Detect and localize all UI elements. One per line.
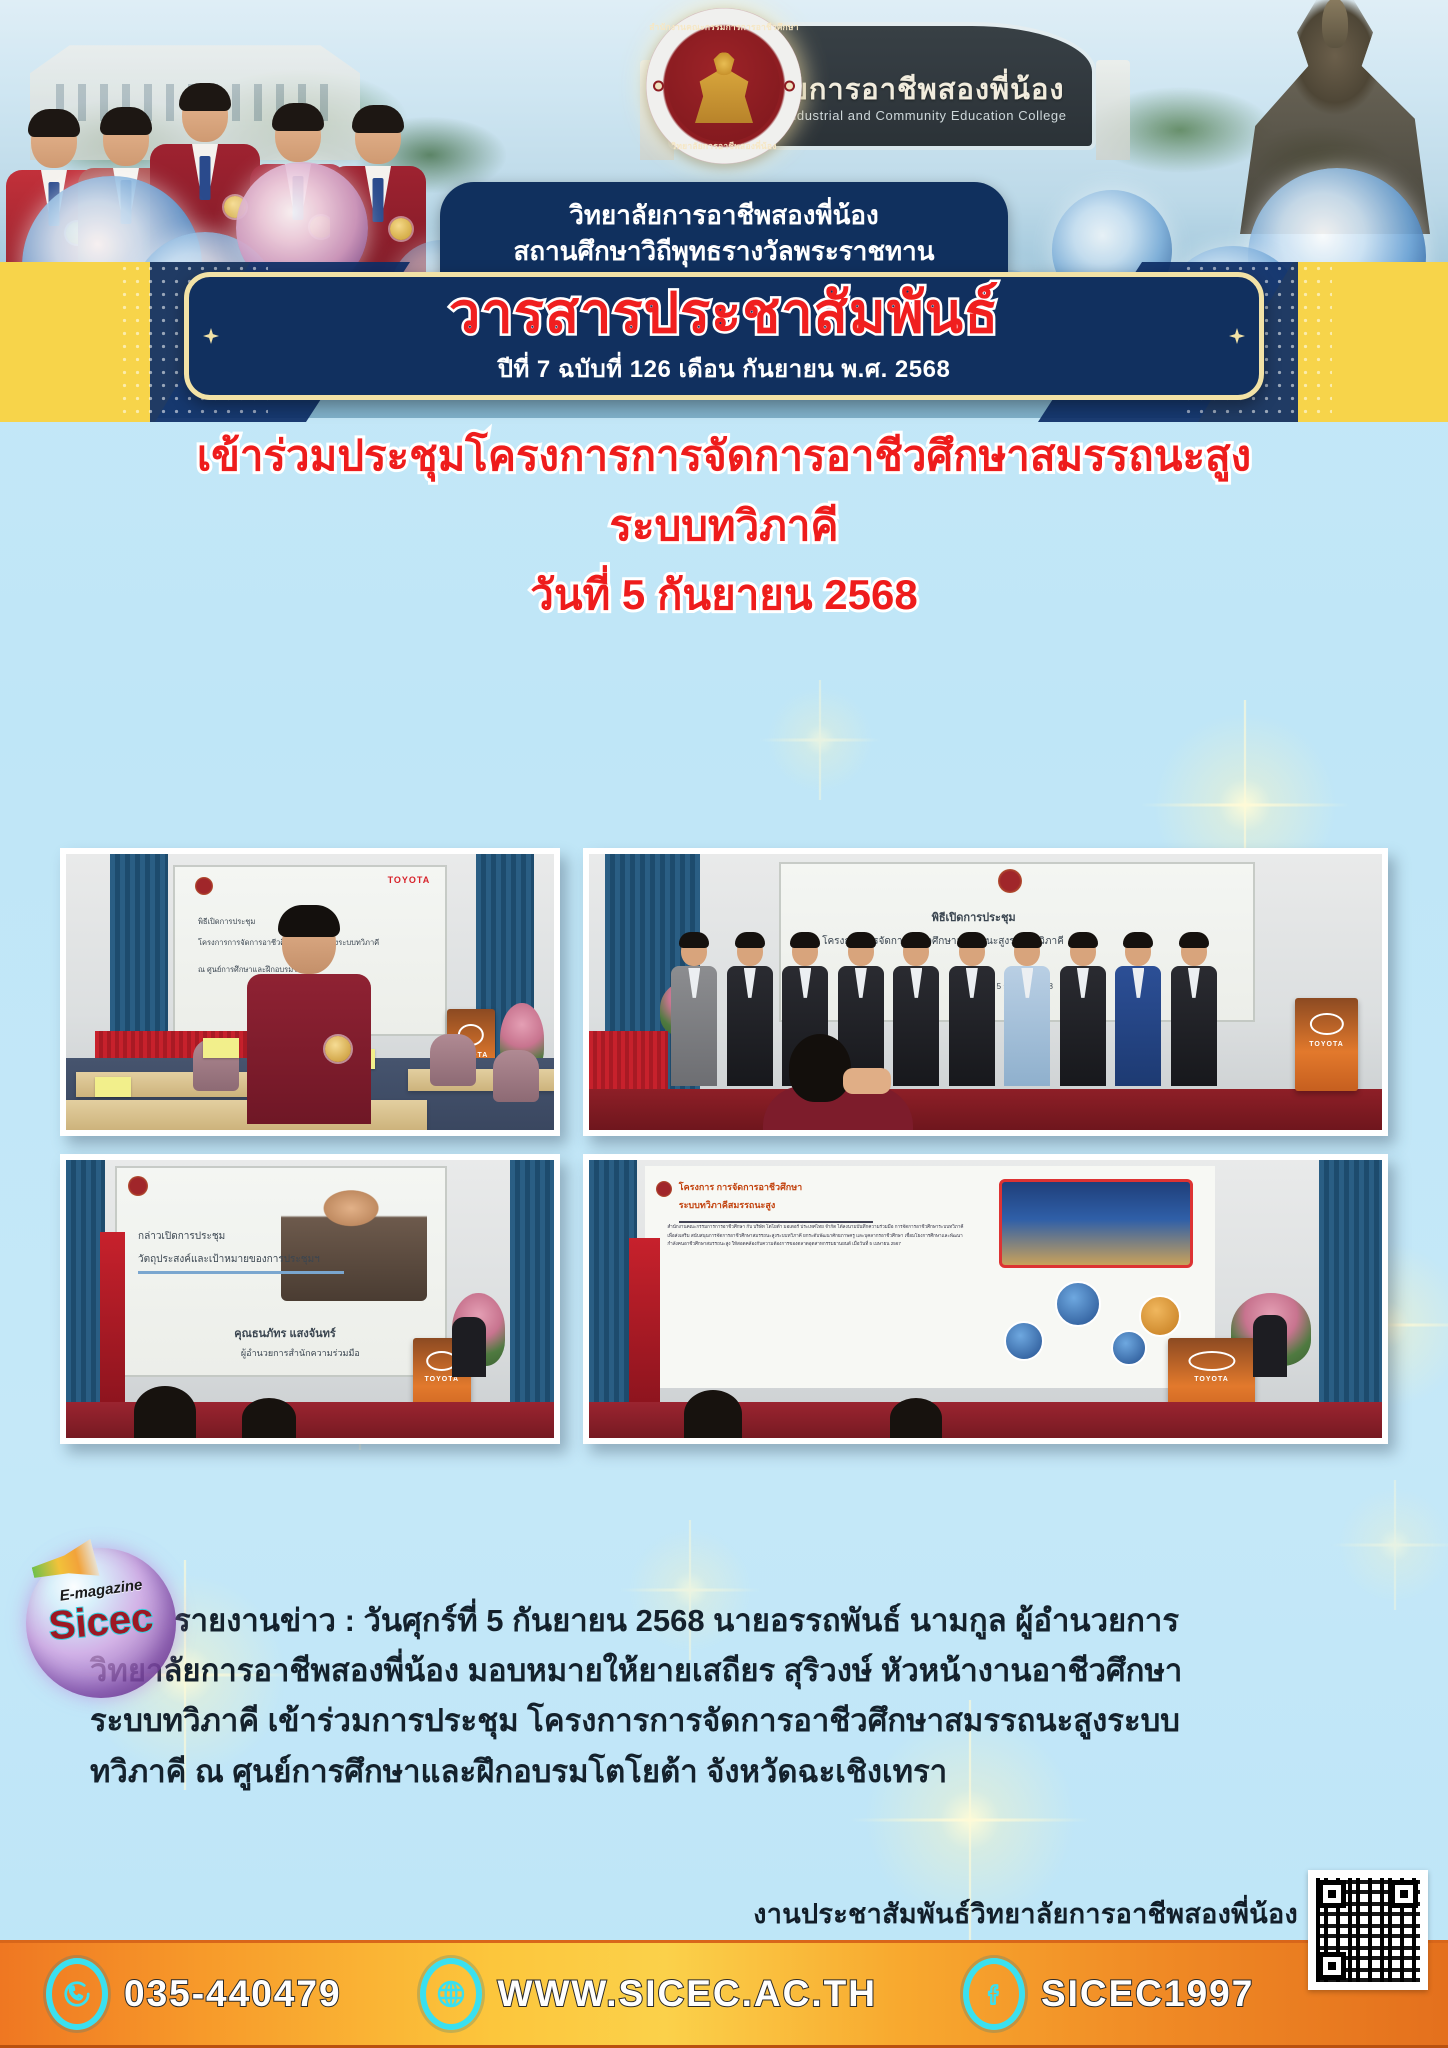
facebook-icon [963, 1958, 1025, 2030]
emagazine-badge: E-magazine Sicec [26, 1548, 176, 1698]
audience-head [684, 1390, 742, 1438]
slide-circle-photo [1111, 1330, 1147, 1366]
slide-seal-icon [998, 869, 1022, 893]
photo-top-left[interactable]: TOYOTA พิธีเปิดการประชุม โครงการการจัดกา… [60, 848, 560, 1136]
opening-remarks-scene: กล่าวเปิดการประชุม วัตถุประสงค์และเป้าหม… [66, 1160, 554, 1438]
seal-dot-right [786, 83, 793, 90]
audience-head [890, 1398, 942, 1438]
headline-line-1: เข้าร่วมประชุมโครงการการจัดการอาชีวศึกษา… [40, 426, 1408, 486]
slide-title-line-1: โครงการ การจัดการอาชีวศึกษา [679, 1181, 802, 1195]
presentation-screen: กล่าวเปิดการประชุม วัตถุประสงค์และเป้าหม… [115, 1166, 447, 1377]
podium: TOYOTA [1295, 998, 1358, 1092]
footer-website-item[interactable]: WWW.SICEC.AC.TH [420, 1958, 877, 2030]
stage-group-scene: พิธีเปิดการประชุม โครงการการจัดการอาชีวศ… [589, 854, 1382, 1130]
toyota-logo-icon [1188, 1351, 1235, 1371]
website-url: WWW.SICEC.AC.TH [498, 1973, 877, 2015]
room-pillar [1319, 1160, 1382, 1438]
qr-code[interactable] [1308, 1870, 1428, 1990]
slide-seal-icon [195, 877, 213, 895]
stage-floor [589, 1089, 1382, 1130]
delegate-person [1168, 936, 1220, 1086]
seal-inner-disc [668, 30, 780, 142]
speaker-portrait [281, 1182, 427, 1300]
article-body: รายงานข่าว : วันศุกร์ที่ 5 กันยายน 2568 … [90, 1596, 1370, 1797]
headline-block: เข้าร่วมประชุมโครงการการจัดการอาชีวศึกษา… [0, 418, 1448, 625]
seal-bottom-label: วิทยาลัยการอาชีพสองพี่น้อง [646, 139, 802, 153]
delegate-person [1001, 936, 1053, 1086]
slide-seal-icon [656, 1181, 672, 1197]
slide-group-photo [999, 1179, 1193, 1268]
speaker-at-podium [1253, 1315, 1287, 1377]
headline-line-3: วันที่ 5 กันยายน 2568 [40, 565, 1408, 625]
podium-brand-label: TOYOTA [413, 1376, 472, 1383]
footer-facebook-item[interactable]: SICEC1997 [963, 1958, 1254, 2030]
photo-bottom-left[interactable]: กล่าวเปิดการประชุม วัตถุประสงค์และเป้าหม… [60, 1154, 560, 1444]
globe-icon [420, 1958, 482, 2030]
photo-bottom-right[interactable]: โครงการ การจัดการอาชีวศึกษา ระบบทวิภาคีส… [583, 1154, 1388, 1444]
stage-curtain [629, 1238, 661, 1405]
qr-finder-icon [1318, 1880, 1346, 1908]
name-card [95, 1077, 131, 1097]
conference-room-scene: TOYOTA พิธีเปิดการประชุม โครงการการจัดกา… [66, 854, 554, 1130]
slide-line-2: วัตถุประสงค์และเป้าหมายของการประชุมฯ [138, 1252, 320, 1267]
podium-brand-label: TOYOTA [1168, 1376, 1255, 1383]
chair [493, 1050, 539, 1102]
slide-speaker-name: คุณธนภัทร แสงจันทร์ [234, 1326, 336, 1343]
footer-phone-item[interactable]: 035-440479 [46, 1958, 342, 2030]
delegate-person [1112, 936, 1164, 1086]
toyota-logo-icon [1309, 1013, 1343, 1036]
audience-head [134, 1386, 196, 1438]
phone-number: 035-440479 [124, 1973, 342, 2015]
project-detail-scene: โครงการ การจัดการอาชีวศึกษา ระบบทวิภาคีส… [589, 1160, 1382, 1438]
photographer-silhouette [763, 1020, 913, 1130]
slide-line-1: กล่าวเปิดการประชุม [138, 1229, 225, 1244]
photo-grid: TOYOTA พิธีเปิดการประชุม โครงการการจัดกา… [0, 846, 1448, 1606]
plaque-line-1: วิทยาลัยการอาชีพสองพี่น้อง [466, 198, 982, 233]
qr-finder-icon [1318, 1952, 1346, 1980]
phone-icon [46, 1958, 108, 2030]
slide-body-text: สำนักงานคณะกรรมการการอาชีวศึกษา กับ บริษ… [667, 1223, 964, 1248]
college-seal-emblem: สำนักงานคณะกรรมการการอาชีวศึกษา วิทยาลัย… [646, 8, 802, 164]
sign-post-right [1096, 60, 1130, 160]
name-card [203, 1038, 239, 1058]
facebook-handle: SICEC1997 [1041, 1973, 1254, 2015]
headline-line-2: ระบบทวิภาคี [40, 496, 1408, 556]
article-line-3: ระบบทวิภาคี เข้าร่วมการประชุม โครงการการ… [90, 1696, 1370, 1746]
seal-motif-icon [695, 49, 753, 123]
sparkle-icon [760, 680, 880, 800]
speaker-at-podium [452, 1317, 486, 1377]
slide-circle-photo [1139, 1295, 1181, 1337]
stage-skirt [589, 1031, 668, 1092]
pr-signature: งานประชาสัมพันธ์วิทยาลัยการอาชีพสองพี่น้… [753, 1892, 1298, 1935]
podium-brand-label: TOYOTA [1295, 1041, 1358, 1048]
delegate-person [946, 936, 998, 1086]
delegate-person [1057, 936, 1109, 1086]
audience-head [242, 1398, 296, 1438]
masthead-banner: วารสารประชาสัมพันธ์ ปีที่ 7 ฉบับที่ 126 … [184, 272, 1264, 400]
delegate-person [668, 936, 720, 1086]
seal-dot-left [655, 83, 662, 90]
project-info-slide: โครงการ การจัดการอาชีวศึกษา ระบบทวิภาคีส… [645, 1166, 1216, 1388]
staff-person-3-director [150, 88, 260, 290]
photo-top-right[interactable]: พิธีเปิดการประชุม โครงการการจัดการอาชีวศ… [583, 848, 1388, 1136]
contact-footer: 035-440479 WWW.SICEC.AC.TH SICEC1997 [0, 1940, 1448, 2048]
slide-circle-photo [1055, 1281, 1101, 1327]
toyota-brand-label: TOYOTA [388, 875, 431, 885]
article-line-2: วิทยาลัยการอาชีพสองพี่น้อง มอบหมายให้ยาย… [90, 1646, 1370, 1696]
stage-curtain [100, 1232, 124, 1404]
newsletter-poster: วิทยาลัยการอาชีพสองพี่น้อง Songphinong I… [0, 0, 1448, 2048]
slide-circle-photo [1004, 1321, 1044, 1361]
slide-line-1: พิธีเปิดการประชุม [932, 910, 1016, 927]
slide-speaker-role: ผู้อำนวยการสำนักความร่วมมือ [241, 1347, 360, 1361]
plaque-line-2: สถานศึกษาวิถีพุทธรางวัลพระราชทาน [466, 233, 982, 271]
slide-divider [138, 1271, 344, 1274]
article-line-1: รายงานข่าว : วันศุกร์ที่ 5 กันยายน 2568 … [90, 1596, 1370, 1646]
room-pillar [510, 1160, 554, 1438]
chair [430, 1034, 476, 1086]
slide-title-line-2: ระบบทวิภาคีสมรรถนะสูง [679, 1199, 776, 1213]
subject-person [247, 912, 371, 1124]
masthead-title: วารสารประชาสัมพันธ์ [449, 285, 999, 341]
masthead-issue-line: ปีที่ 7 ฉบับที่ 126 เดือน กันยายน พ.ศ. 2… [498, 349, 951, 388]
qr-finder-icon [1390, 1880, 1418, 1908]
article-line-4: ทวิภาคี ณ ศูนย์การศึกษาและฝึกอบรมโตโยต้า… [90, 1747, 1370, 1797]
slide-seal-icon [128, 1176, 148, 1196]
